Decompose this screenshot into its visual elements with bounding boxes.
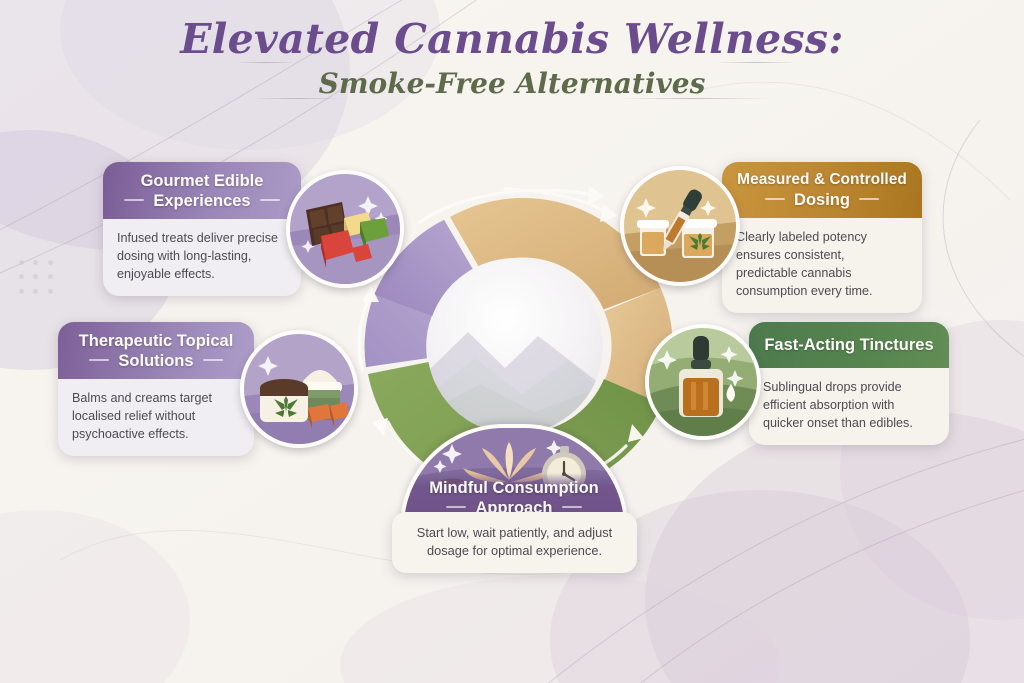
- card-edibles-header: Gourmet Edible Experiences: [103, 162, 301, 219]
- card-dosing[interactable]: Measured & Controlled Dosing Clearly lab…: [722, 162, 922, 313]
- card-topicals-header: Therapeutic Topical Solutions: [58, 322, 254, 379]
- ring-inner-scene: [427, 258, 603, 434]
- card-edibles-body: Infused treats deliver precise dosing wi…: [103, 219, 301, 296]
- dash-left-icon: [446, 506, 466, 508]
- card-tinctures[interactable]: Fast-Acting Tinctures Sublingual drops p…: [749, 322, 949, 445]
- card-tinctures-header: Fast-Acting Tinctures: [749, 322, 949, 368]
- card-dosing-body: Clearly labeled potency ensures consiste…: [722, 218, 922, 313]
- tincture-bottle-illustration: [649, 328, 757, 436]
- card-edibles-title-line2: Experiences: [113, 191, 291, 211]
- dash-left-icon: [89, 359, 109, 361]
- card-dosing-header: Measured & Controlled Dosing: [722, 162, 922, 218]
- chocolate-gummies-illustration: [290, 174, 400, 284]
- card-dosing-title-line2: Dosing: [732, 190, 912, 210]
- title-main: Elevated Cannabis Wellness:: [0, 16, 1024, 63]
- tincture-bottle-icon[interactable]: [645, 324, 761, 440]
- dot-grid-decoration: [14, 255, 58, 299]
- balm-tin-icon: [260, 379, 308, 422]
- card-mindful-body: Start low, wait patiently, and adjust do…: [392, 512, 637, 573]
- dash-right-icon: [260, 199, 280, 201]
- card-dosing-title-line1: Measured & Controlled: [732, 171, 912, 190]
- card-topicals[interactable]: Therapeutic Topical Solutions Balms and …: [58, 322, 254, 456]
- card-tinctures-body: Sublingual drops provide efficient absor…: [749, 368, 949, 445]
- dash-right-icon: [562, 506, 582, 508]
- page-title: Elevated Cannabis Wellness: Smoke-Free A…: [0, 16, 1024, 100]
- title-subtitle: Smoke-Free Alternatives: [0, 67, 1024, 100]
- card-topicals-title-line1: Therapeutic Topical: [68, 331, 244, 351]
- dash-left-icon: [765, 198, 785, 200]
- dash-right-icon: [203, 359, 223, 361]
- card-mindful-title-line1: Mindful Consumption: [412, 479, 616, 499]
- card-mindful[interactable]: Start low, wait patiently, and adjust do…: [392, 512, 637, 573]
- card-edibles-title-line1: Gourmet Edible: [113, 171, 291, 191]
- dropper-jars-icon[interactable]: [620, 166, 740, 286]
- dash-left-icon: [124, 199, 144, 201]
- dash-right-icon: [859, 198, 879, 200]
- card-topicals-title-line2: Solutions: [68, 351, 244, 371]
- dropper-jars-illustration: [624, 170, 736, 282]
- card-topicals-body: Balms and creams target localised relief…: [58, 379, 254, 456]
- card-tinctures-title-line1: Fast-Acting Tinctures: [759, 335, 939, 355]
- card-edibles[interactable]: Gourmet Edible Experiences Infused treat…: [103, 162, 301, 296]
- balm-cream-jars-icon[interactable]: [240, 330, 358, 448]
- balm-cream-jars-illustration: [244, 334, 354, 444]
- infographic-canvas: Elevated Cannabis Wellness: Smoke-Free A…: [0, 0, 1024, 683]
- chocolate-gummies-icon[interactable]: [286, 170, 404, 288]
